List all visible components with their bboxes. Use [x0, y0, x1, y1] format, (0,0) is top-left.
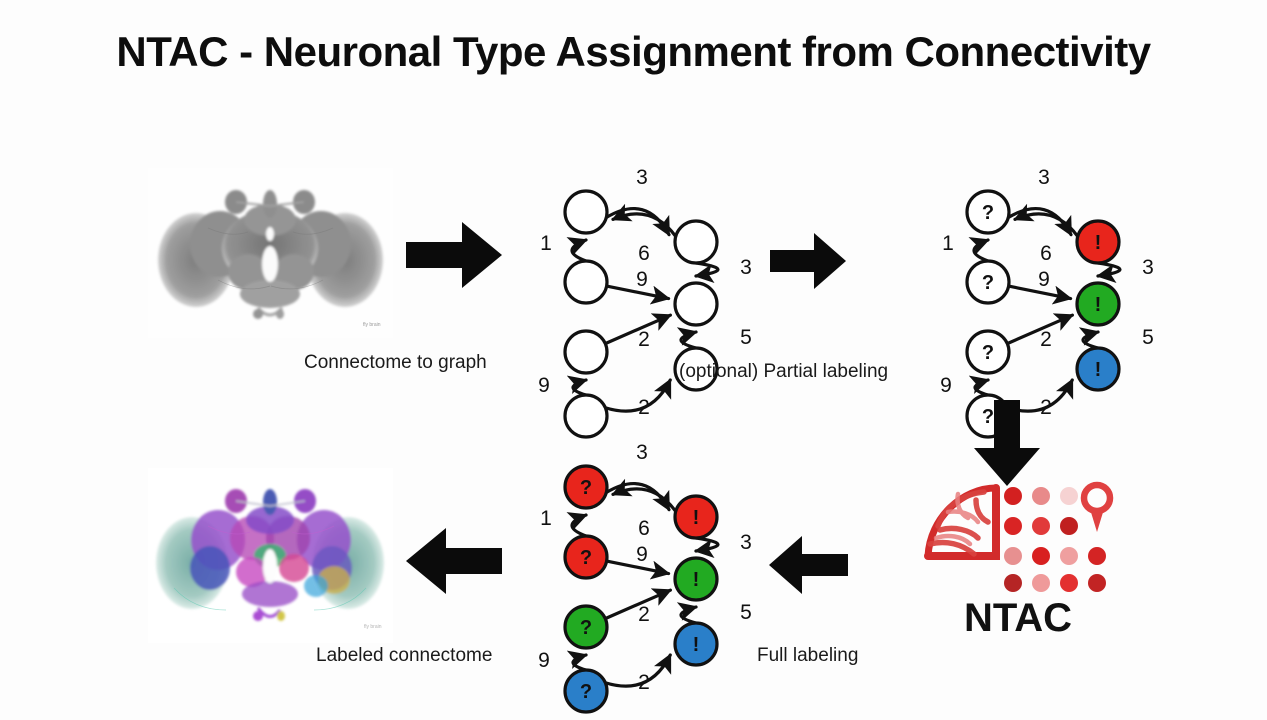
graph-node: ! — [1077, 348, 1119, 390]
graph-node: ! — [1077, 221, 1119, 263]
node-label: ! — [693, 569, 700, 591]
graph-edge — [696, 263, 718, 276]
node-label: ! — [693, 634, 700, 656]
graph-node: ! — [1077, 283, 1119, 325]
node-label: ? — [580, 681, 592, 703]
grayscale-connectome-image: fly brain — [148, 168, 393, 338]
graph-node: ? — [967, 191, 1009, 233]
node-label: ? — [580, 547, 592, 569]
caption-full-labeling: Full labeling — [757, 645, 858, 667]
slide-root: NTAC - Neuronal Type Assignment from Con… — [0, 0, 1267, 696]
graph-edge — [572, 240, 586, 261]
graph-node: ? — [967, 261, 1009, 303]
graph-edge — [974, 240, 988, 261]
edge-weight-label: 3 — [636, 441, 648, 464]
edge-weight-label: 6 — [638, 517, 650, 540]
edge-weight-label: 6 — [638, 242, 650, 265]
edge-weight-label: 1 — [540, 232, 552, 255]
graph-edge — [975, 380, 988, 395]
caption-labeled-connectome: Labeled connectome — [316, 645, 492, 667]
node-label: ! — [693, 507, 700, 529]
node-label: ! — [1095, 359, 1102, 381]
edge-weight-label: 3 — [740, 256, 752, 279]
node-label: ? — [580, 617, 592, 639]
edge-weight-label: 9 — [1038, 268, 1050, 291]
graph-node: ? — [565, 606, 607, 648]
ntac-logo-label: NTAC — [918, 596, 1118, 641]
ntac-logo: NTAC — [918, 478, 1118, 648]
arrow-left-ntac-to-full — [766, 533, 850, 602]
graph-edge — [573, 380, 586, 395]
node-label: ? — [580, 477, 592, 499]
graph-edge — [696, 538, 718, 551]
edge-weight-label: 3 — [1142, 256, 1154, 279]
graph-node — [565, 261, 607, 303]
graph-edge — [681, 332, 696, 348]
edge-weight-label: 1 — [540, 507, 552, 530]
edge-weight-label: 5 — [1142, 326, 1154, 349]
svg-text:fly brain: fly brain — [363, 322, 381, 328]
edge-weight-label: 3 — [636, 166, 648, 189]
node-label: ! — [1095, 294, 1102, 316]
graph-node: ! — [675, 623, 717, 665]
edge-weight-label: 6 — [1040, 242, 1052, 265]
svg-text:fly brain: fly brain — [364, 624, 382, 630]
node-label: ? — [982, 202, 994, 224]
graph-edge — [681, 607, 696, 623]
graph-node — [565, 331, 607, 373]
edge-weight-label: 2 — [1040, 328, 1052, 351]
edge-weight-label: 2 — [638, 328, 650, 351]
graph-node — [675, 283, 717, 325]
graph-node: ? — [565, 670, 607, 712]
graph-node: ! — [675, 496, 717, 538]
edge-weight-label: 2 — [638, 671, 650, 694]
graph-fully-labeled: 361932592??!!?!? — [500, 425, 760, 720]
arrow-right-connectome-to-graph — [404, 218, 504, 297]
edge-weight-label: 9 — [940, 374, 952, 397]
edge-weight-label: 5 — [740, 326, 752, 349]
caption-partial-labeling: (optional) Partial labeling — [679, 361, 888, 383]
node-label: ! — [1095, 232, 1102, 254]
caption-connectome-to-graph: Connectome to graph — [304, 352, 487, 374]
edge-weight-label: 2 — [638, 603, 650, 626]
node-label: ? — [982, 272, 994, 294]
edge-weight-label: 9 — [538, 649, 550, 672]
edge-weight-label: 3 — [740, 531, 752, 554]
graph-node: ? — [967, 331, 1009, 373]
edge-weight-label: 9 — [636, 268, 648, 291]
graph-plain: 361932592 — [500, 150, 760, 445]
graph-edge — [573, 655, 586, 670]
graph-node: ! — [675, 558, 717, 600]
edge-weight-label: 1 — [942, 232, 954, 255]
graph-node — [675, 221, 717, 263]
page-title: NTAC - Neuronal Type Assignment from Con… — [0, 28, 1267, 76]
arrow-right-graph-to-partial — [768, 230, 848, 297]
ntac-logo-icon — [918, 478, 1118, 603]
graph-node — [565, 191, 607, 233]
graph-edge — [572, 515, 586, 536]
edge-weight-label: 9 — [538, 374, 550, 397]
graph-node: ? — [565, 536, 607, 578]
edge-weight-label: 9 — [636, 543, 648, 566]
colored-connectome-image: fly brain — [148, 468, 393, 643]
edge-weight-label: 3 — [1038, 166, 1050, 189]
edge-weight-label: 2 — [638, 396, 650, 419]
arrow-left-full-to-connectome — [404, 524, 504, 603]
graph-edge — [1098, 263, 1120, 276]
graph-edge — [1083, 332, 1098, 348]
edge-weight-label: 5 — [740, 601, 752, 624]
graph-node: ? — [565, 466, 607, 508]
node-label: ? — [982, 342, 994, 364]
